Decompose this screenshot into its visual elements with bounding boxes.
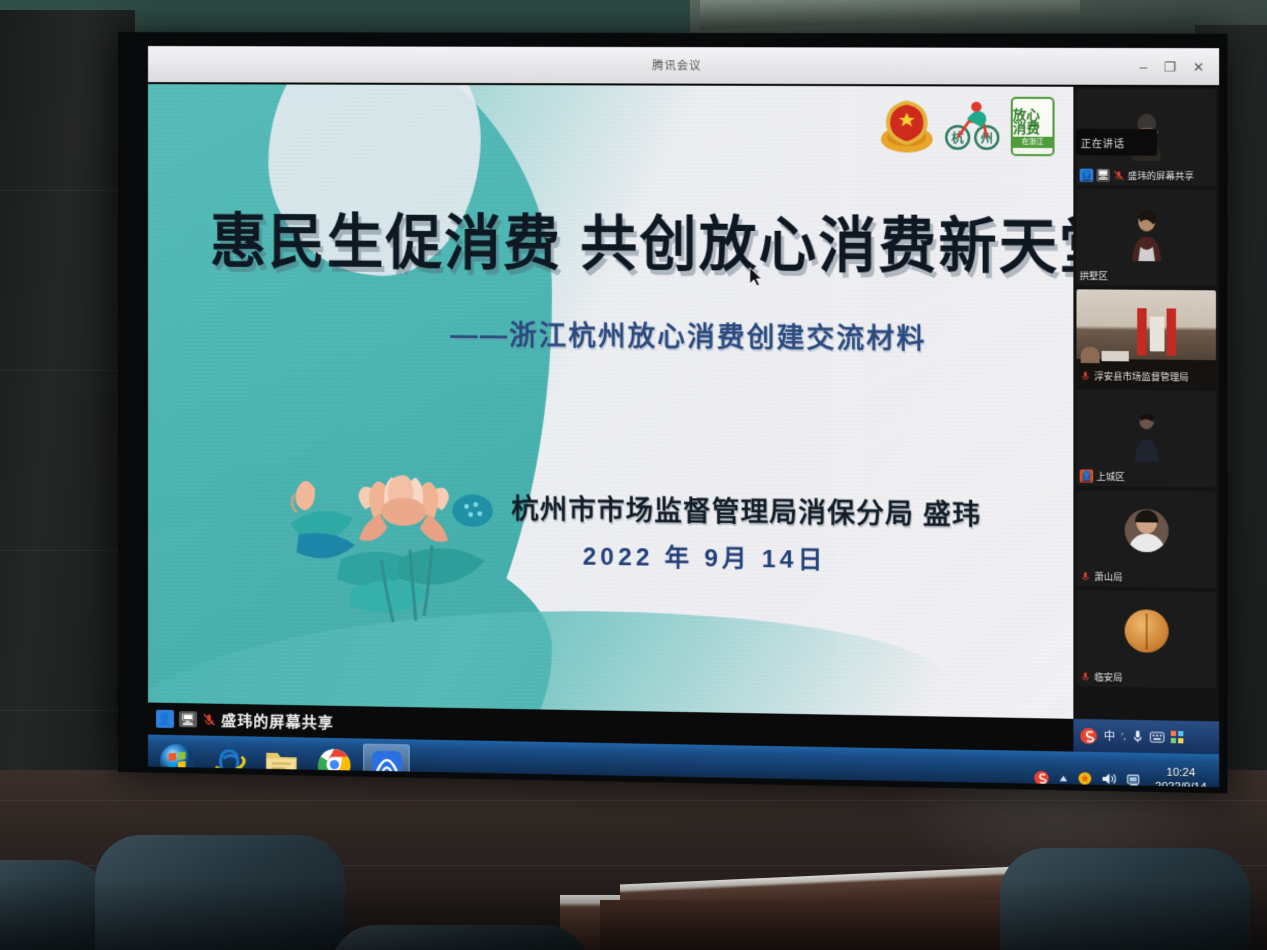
chair [330, 925, 590, 950]
mid-desk-front [600, 900, 1030, 950]
badge-bottom-text: 在浙江 [1013, 136, 1053, 147]
lotus-flower-illustration [280, 438, 533, 633]
system-tray[interactable]: 10:24 2022/9/14 [1034, 751, 1219, 787]
participant-label: 上城区 [1096, 470, 1124, 484]
fangxin-xiaofei-badge: 放心消费 在浙江 [1011, 97, 1055, 156]
keyboard-icon[interactable] [1150, 731, 1165, 743]
chinese-mode-icon[interactable]: 中 [1104, 728, 1116, 745]
participant-panel[interactable]: 👤 🖥 盛玮的屏幕共享 [1073, 87, 1219, 722]
microphone-icon [1080, 370, 1092, 381]
participant-tile[interactable]: 临安局 [1077, 590, 1216, 689]
window-controls[interactable]: – ❐ ✕ [1108, 52, 1213, 81]
close-icon[interactable]: ✕ [1193, 60, 1204, 73]
participant-name-row: 萧山局 [1080, 570, 1123, 584]
presentation-slide: 杭 州 放心消费 在浙江 惠民生促消费 共创放心消费新天堂 ——浙江杭州放心消费… [148, 84, 1073, 719]
arrow-up-icon[interactable] [1059, 773, 1068, 782]
microphone-icon [1080, 571, 1092, 582]
participant-label: 盛玮的屏幕共享 [1128, 169, 1194, 183]
speaking-tooltip: 正在讲话 [1075, 129, 1157, 156]
slide-logos: 杭 州 放心消费 在浙江 [880, 96, 1055, 156]
screen-share-icon: 🖥 [179, 711, 197, 727]
slide-title: 惠民生促消费 共创放心消费新天堂 [210, 194, 1049, 286]
toolbox-icon[interactable] [1171, 731, 1184, 744]
badge-top-text: 放心消费 [1013, 108, 1053, 135]
conference-room: 腾讯会议 – ❐ ✕ [0, 0, 1267, 950]
shield-icon[interactable] [1078, 771, 1093, 786]
participant-label: 萧山局 [1094, 570, 1122, 584]
participant-label: 拱墅区 [1080, 269, 1108, 283]
wall-left-panels [0, 10, 135, 840]
share-label: 盛玮的屏幕共享 [221, 709, 334, 732]
app-titlebar: 腾讯会议 [148, 46, 1219, 85]
participant-name-row: 👤 上城区 [1080, 469, 1125, 483]
sogou-ime-bar[interactable]: 中 ′, [1073, 719, 1219, 754]
participant-icon: 👤 [1080, 469, 1094, 482]
restore-icon[interactable]: ❐ [1164, 60, 1176, 73]
chair [95, 835, 345, 950]
participant-icon: 👤 [156, 710, 174, 728]
participant-tile[interactable]: 萧山局 [1077, 490, 1216, 588]
minimize-icon[interactable]: – [1140, 60, 1148, 73]
sogou-logo-icon[interactable] [1080, 727, 1098, 745]
sogou-tray-icon[interactable] [1034, 770, 1050, 786]
screen-share-icon: 🖥 [1096, 169, 1110, 182]
participant-label: 淳安县市场监督管理局 [1094, 369, 1188, 383]
slide-subtitle: ——浙江杭州放心消费创建交流材料 [450, 313, 1068, 358]
participant-tile[interactable]: 👤 上城区 [1077, 390, 1216, 488]
microphone-muted-icon [1113, 170, 1125, 181]
microphone-icon [1080, 671, 1092, 682]
video-thumbnail [1124, 509, 1168, 553]
participant-tile[interactable]: 拱墅区 [1077, 189, 1216, 286]
mouse-cursor-icon [749, 267, 763, 287]
participant-name-row: 临安局 [1080, 670, 1123, 684]
network-icon[interactable] [1127, 773, 1142, 787]
video-thumbnail [1125, 407, 1167, 463]
tone-icon[interactable]: ′, [1121, 731, 1125, 741]
slide-date: 2022 年 9月 14日 [583, 536, 995, 577]
microphone-icon[interactable] [1132, 729, 1144, 744]
samr-emblem-icon [880, 98, 934, 153]
microphone-muted-icon [202, 713, 216, 727]
participant-name-row: 👤 🖥 盛玮的屏幕共享 [1080, 169, 1194, 183]
presentation-screen: 腾讯会议 – ❐ ✕ [118, 32, 1228, 793]
participant-tile[interactable]: 淳安县市场监督管理局 [1077, 289, 1216, 387]
clock-date: 2022/9/14 [1155, 780, 1206, 787]
participant-name-row: 拱墅区 [1080, 269, 1108, 283]
screen-content: 杭 州 放心消费 在浙江 惠民生促消费 共创放心消费新天堂 ——浙江杭州放心消费… [148, 84, 1219, 787]
video-thumbnail [1125, 206, 1167, 262]
participant-icon: 👤 [1080, 169, 1094, 182]
participant-label: 临安局 [1094, 670, 1122, 684]
app-title: 腾讯会议 [652, 57, 701, 73]
slide-presenter: 杭州市市场监督管理局消保分局 盛玮 [511, 487, 1047, 534]
chair [0, 860, 110, 950]
hangzhou-cyclist-logo: 杭 州 [944, 101, 1000, 152]
chair [1000, 848, 1250, 950]
taskbar-clock[interactable]: 10:24 2022/9/14 [1155, 765, 1211, 787]
participant-name-row: 淳安县市场监督管理局 [1080, 369, 1189, 383]
avatar [1124, 610, 1168, 654]
clock-time: 10:24 [1166, 766, 1195, 781]
volume-icon[interactable] [1102, 772, 1118, 787]
